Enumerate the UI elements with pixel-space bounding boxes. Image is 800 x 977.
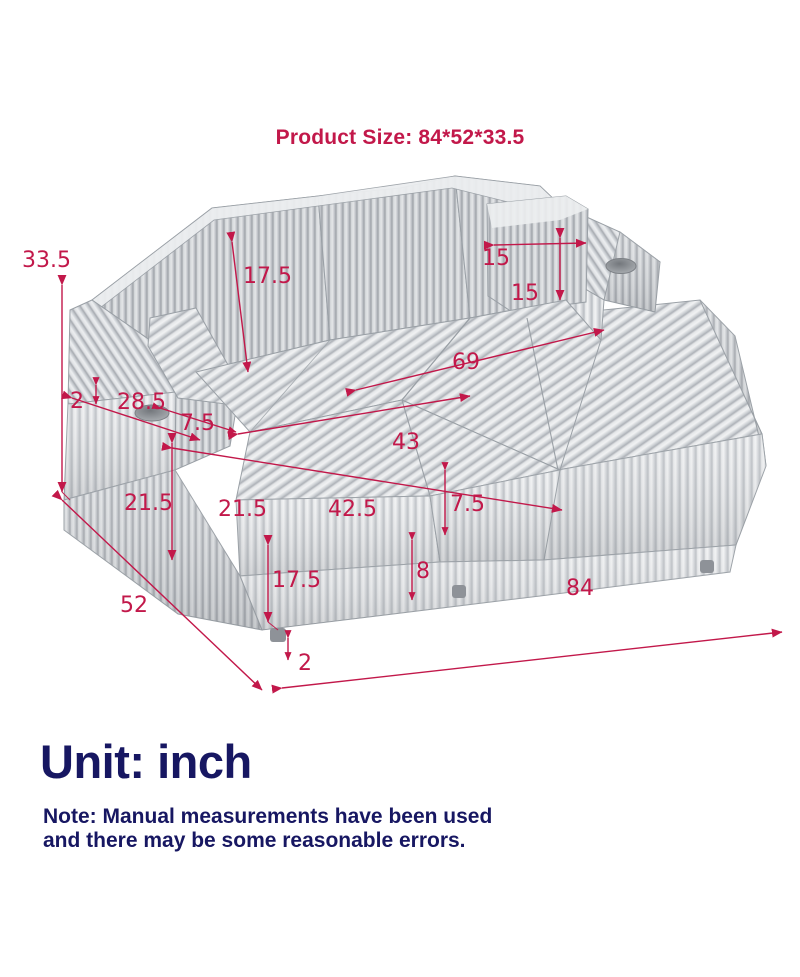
- dim-armrest-width: 7.5: [180, 413, 215, 435]
- measurement-note: Note: Manual measurements have been used…: [43, 805, 763, 854]
- note-line-2: and there may be some reasonable errors.: [43, 829, 763, 853]
- dim-pillow-height: 15: [511, 283, 539, 305]
- cup-holder-right: [606, 259, 636, 274]
- sofa-illustration: [64, 176, 766, 642]
- dim-armrest-depth: 28.5: [117, 392, 166, 414]
- dim-overall-height: 33.5: [22, 250, 71, 272]
- sofa-foot-left: [270, 628, 286, 642]
- dim-seat-length: 42.5: [328, 499, 377, 521]
- sofa-foot-right: [700, 560, 714, 573]
- dim-pillow-width: 15: [482, 248, 510, 270]
- dim-seat-side-width: 7.5: [450, 494, 485, 516]
- dim-seat-depth-right: 69: [452, 352, 480, 374]
- dim-seat-height-left: 21.5: [124, 493, 173, 515]
- dim-leg-clearance: 8: [416, 561, 430, 583]
- dimline-overall-width: [282, 632, 782, 688]
- dim-base-height: 17.5: [272, 570, 321, 592]
- dim-backrest-height: 17.5: [243, 266, 292, 288]
- dim-seat-width-center: 43: [392, 432, 420, 454]
- dim-foot-height: 2: [298, 653, 312, 675]
- dim-seat-depth-left: 21.5: [218, 499, 267, 521]
- sofa-foot-mid: [452, 585, 466, 598]
- note-line-1: Note: Manual measurements have been used: [43, 805, 763, 829]
- dim-overall-width: 84: [566, 578, 594, 600]
- unit-label: Unit: inch: [40, 738, 252, 785]
- dim-armrest-thickness: 2: [70, 391, 84, 413]
- dim-overall-depth: 52: [120, 595, 148, 617]
